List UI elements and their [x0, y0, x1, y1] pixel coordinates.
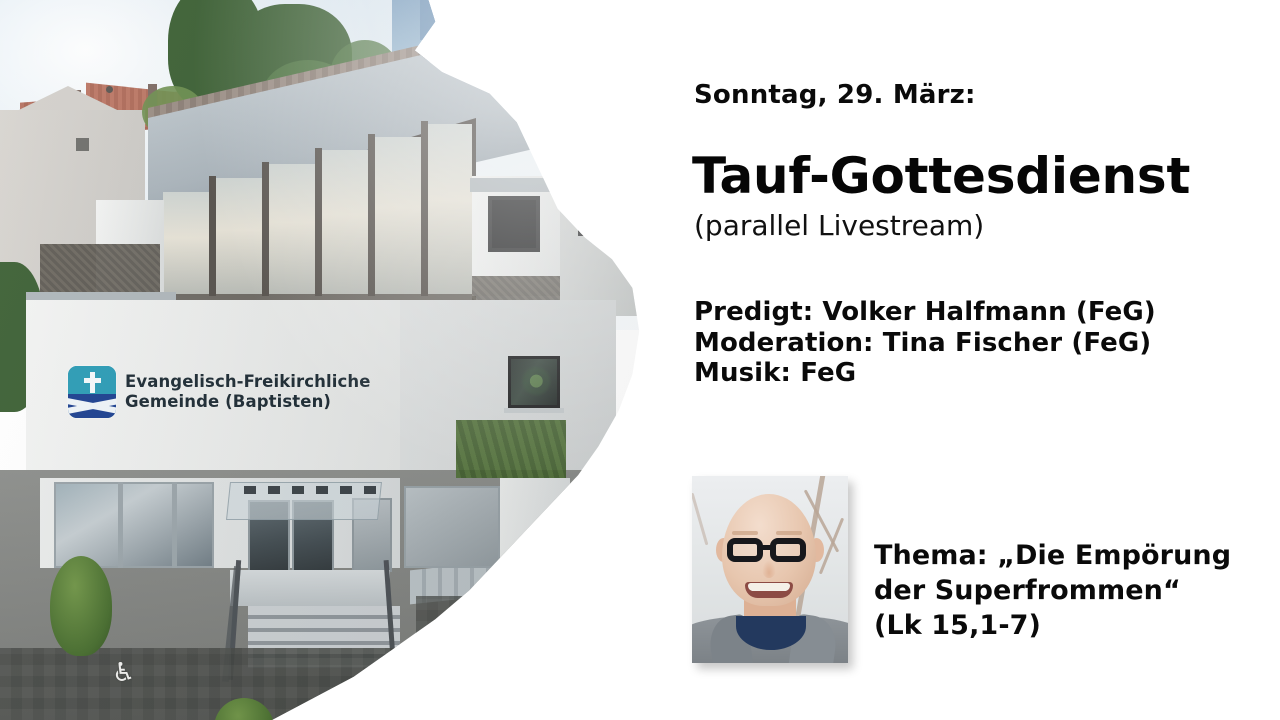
building-photo-clip: Evangelisch-Freikirchliche Gemeinde (Bap…	[0, 0, 680, 720]
edge-speck-7	[496, 14, 508, 22]
building-photo: Evangelisch-Freikirchliche Gemeinde (Bap…	[0, 0, 680, 720]
church-logo-text: Evangelisch-Freikirchliche Gemeinde (Bap…	[125, 372, 371, 412]
glass-pane-1	[163, 192, 209, 294]
neighbour-window	[76, 138, 89, 151]
ground-wall-right	[500, 478, 570, 568]
credit-music: Musik: FeG	[694, 358, 1156, 389]
facade-window-reflective	[508, 356, 560, 408]
smiling-mouth	[745, 582, 793, 598]
accessibility-symbol-icon: ♿	[112, 660, 135, 686]
mullion-5	[421, 121, 428, 296]
upper-right-window	[488, 196, 540, 252]
entrance-platform	[230, 570, 390, 606]
slide-root: Evangelisch-Freikirchliche Gemeinde (Bap…	[0, 0, 1280, 720]
eyeglass-lens-left	[727, 538, 763, 562]
credit-moderation: Moderation: Tina Fischer (FeG)	[694, 328, 1156, 359]
edge-speck-2	[540, 70, 546, 76]
church-logo-sign: Evangelisch-Freikirchliche Gemeinde (Bap…	[68, 366, 371, 418]
glass-pane-2	[216, 178, 262, 294]
edge-speck-1	[520, 36, 529, 43]
church-logo-line2: Gemeinde (Baptisten)	[125, 392, 371, 412]
distant-tower-upper	[420, 0, 472, 40]
sermon-theme: Thema: „Die Empörung der Superfrommen“ (…	[874, 538, 1231, 643]
announcement-text-column: Sonntag, 29. März: Tauf-Gottesdienst (pa…	[694, 0, 1280, 720]
roof-parapet-right	[470, 178, 610, 192]
canopy-bracket-6	[364, 486, 376, 494]
service-credits: Predigt: Volker Halfmann (FeG) Moderatio…	[694, 297, 1156, 389]
credit-preacher: Predigt: Volker Halfmann (FeG)	[694, 297, 1156, 328]
window-sill	[504, 408, 564, 413]
service-subtitle: (parallel Livestream)	[694, 209, 984, 243]
entrance-mullion-a	[118, 482, 123, 568]
mullion-1	[209, 176, 216, 296]
mullion-2	[262, 162, 269, 296]
glass-pane-5	[375, 137, 421, 294]
ground-glazing-right	[404, 486, 500, 568]
speaker-portrait-image	[692, 476, 848, 663]
church-logo-icon	[68, 366, 116, 418]
eyebrow-left	[732, 531, 758, 535]
nose	[762, 560, 776, 578]
eyeglass-lens-right	[770, 538, 806, 562]
edge-speck-3	[536, 140, 544, 146]
far-right-window-b	[604, 212, 616, 238]
canopy-bracket-1	[244, 486, 256, 494]
edge-speck-4	[552, 178, 558, 183]
mullion-3	[315, 148, 322, 296]
glass-pane-3	[269, 164, 315, 294]
canopy-bracket-5	[340, 486, 352, 494]
far-right-facade	[560, 126, 680, 316]
theme-line-2: der Superfrommen“	[874, 573, 1231, 608]
church-logo-line1: Evangelisch-Freikirchliche	[125, 372, 371, 392]
service-date: Sonntag, 29. März:	[694, 80, 976, 110]
mullion-4	[368, 134, 375, 296]
theme-line-3: (Lk 15,1-7)	[874, 608, 1231, 643]
entrance-mullion-b	[172, 482, 177, 568]
background-branch-4	[692, 493, 708, 546]
canopy-bracket-3	[292, 486, 304, 494]
far-right-window-a	[578, 206, 592, 236]
canopy-bracket-2	[268, 486, 280, 494]
bush-right	[430, 700, 502, 720]
hedge-back	[456, 420, 566, 478]
eyebrow-right	[776, 531, 802, 535]
service-title: Tauf-Gottesdienst	[692, 148, 1190, 204]
eyeglass-bridge	[762, 545, 772, 550]
edge-speck-6	[600, 570, 606, 575]
canopy-bracket-4	[316, 486, 328, 494]
glass-pane-4	[322, 150, 368, 294]
theme-line-1: Thema: „Die Empörung	[874, 538, 1231, 573]
speaker-portrait	[692, 476, 848, 663]
edge-speck-5	[613, 540, 622, 548]
entrance-glazing-left	[54, 482, 214, 568]
paving-right	[416, 596, 616, 720]
bush-left	[50, 556, 112, 656]
paving-forecourt	[0, 648, 420, 720]
logo-cross-horizontal	[84, 378, 101, 383]
glass-pane-6	[428, 124, 472, 294]
teeth	[748, 583, 790, 591]
